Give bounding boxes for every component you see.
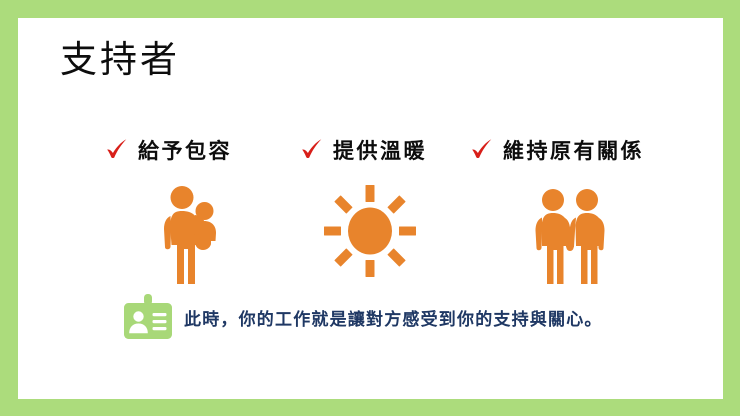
pictogram-cell-2 <box>510 173 630 288</box>
heading-label-1: 提供溫暖 <box>333 135 427 165</box>
heading-item-0: 給予包容 <box>105 135 232 165</box>
heading-label-0: 給予包容 <box>138 135 232 165</box>
check-icon <box>300 138 324 162</box>
slide-frame: 支持者 給予包容 提供溫暖 維持原有關係 <box>0 0 740 416</box>
check-icon <box>470 138 494 162</box>
footer-note: 此時，你的工作就是讓對方感受到你的支持與關心。 <box>122 294 603 340</box>
two-people-holding-hands-icon <box>528 188 612 288</box>
parent-holding-child-icon <box>157 185 233 288</box>
footer-note-text: 此時，你的工作就是讓對方感受到你的支持與關心。 <box>184 305 603 330</box>
heading-item-1: 提供溫暖 <box>300 135 427 165</box>
page-title: 支持者 <box>60 38 180 84</box>
heading-label-2: 維持原有關係 <box>503 135 644 165</box>
check-icon <box>105 138 129 162</box>
slide-canvas: 支持者 給予包容 提供溫暖 維持原有關係 <box>18 18 723 399</box>
heading-item-2: 維持原有關係 <box>470 135 644 165</box>
sun-icon <box>322 183 418 279</box>
pictogram-cell-0 <box>135 173 255 288</box>
pictogram-cell-1 <box>310 173 430 288</box>
id-badge-icon <box>122 294 174 340</box>
